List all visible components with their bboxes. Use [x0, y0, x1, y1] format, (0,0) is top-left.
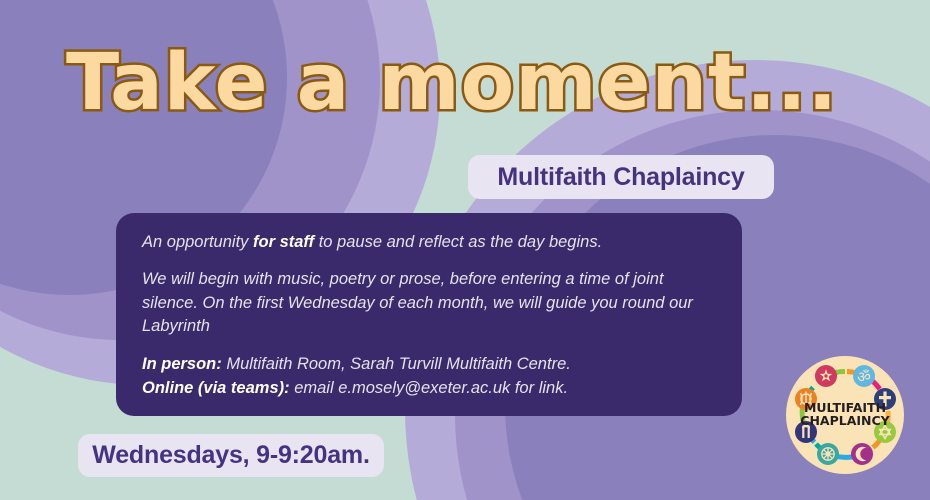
body-p1-rest: to pause and reflect as the day begins.	[314, 233, 602, 251]
body-p1-lead: An opportunity	[142, 233, 253, 251]
svg-text:ॐ: ॐ	[857, 368, 871, 386]
online-value: email e.mosely@exeter.ac.uk for link.	[290, 379, 568, 397]
logo-svg: ॐ	[786, 356, 904, 474]
page-title: Take a moment...	[66, 44, 838, 122]
body-attendance-details: In person: Multifaith Room, Sarah Turvil…	[142, 353, 716, 401]
bahai-nine-pointed-star-icon	[815, 365, 837, 387]
body-panel: An opportunity for staff to pause and re…	[116, 213, 742, 416]
buddhist-dharma-wheel-icon	[817, 443, 839, 465]
logo-wordmark-line2: CHAPLAINCY	[800, 413, 890, 428]
subtitle-badge: Multifaith Chaplaincy	[468, 155, 774, 199]
body-paragraph-2: We will begin with music, poetry or pros…	[142, 268, 716, 338]
online-label: Online (via teams):	[142, 379, 290, 397]
body-paragraph-1: An opportunity for staff to pause and re…	[142, 231, 716, 254]
hindu-om-icon: ॐ	[853, 365, 875, 387]
in-person-value: Multifaith Room, Sarah Turvill Multifait…	[222, 355, 571, 373]
time-badge-label: Wednesdays, 9-9:20am.	[92, 441, 369, 470]
in-person-label: In person:	[142, 355, 222, 373]
subtitle-badge-label: Multifaith Chaplaincy	[497, 163, 744, 192]
islamic-crescent-icon	[851, 443, 873, 465]
body-p1-bold: for staff	[253, 233, 314, 251]
multifaith-chaplaincy-logo: ॐ	[786, 356, 904, 474]
time-badge: Wednesdays, 9-9:20am.	[78, 434, 384, 477]
poster-canvas: Take a moment... Multifaith Chaplaincy A…	[0, 0, 930, 500]
